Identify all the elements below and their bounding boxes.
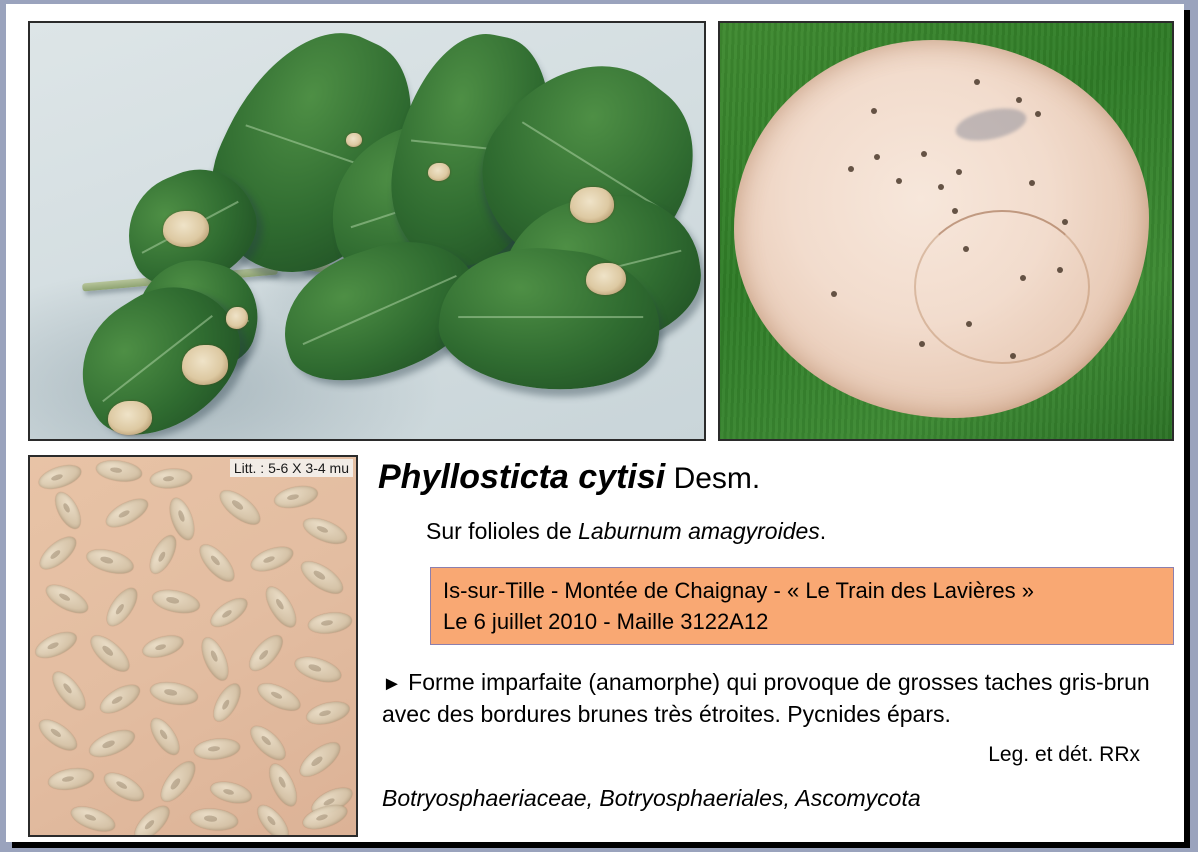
pycnidium-dot <box>1057 267 1063 273</box>
conidium <box>100 767 148 806</box>
leaf-lesion <box>428 163 450 181</box>
pycnidium-dot <box>831 291 837 297</box>
conidium <box>292 652 344 687</box>
conidium <box>47 667 91 716</box>
conidium <box>194 539 240 587</box>
pycnidium-dot <box>874 154 880 160</box>
conidium <box>129 801 175 837</box>
conidium <box>68 802 118 837</box>
pycnidium-dot <box>938 184 944 190</box>
conidium <box>140 632 186 662</box>
conidium <box>197 634 234 684</box>
conidium <box>208 680 245 726</box>
conidium <box>215 484 266 530</box>
species-author: Desm. <box>665 462 760 495</box>
leaf-lesion <box>586 263 626 295</box>
page-title: Phyllosticta cytisi Desm. <box>378 457 760 499</box>
pycnidium-dot <box>1029 180 1035 186</box>
pycnidium-dot <box>1010 353 1016 359</box>
conidium <box>307 610 353 636</box>
spore-size-caption: Litt. : 5-6 X 3-4 mu <box>230 459 353 477</box>
leaf-lesion <box>163 211 209 247</box>
conidium <box>149 679 200 708</box>
conidium <box>86 725 138 762</box>
conidium <box>300 800 350 833</box>
leaf-lesion <box>108 401 152 435</box>
conidium <box>150 586 201 617</box>
conidium <box>101 583 143 631</box>
pycnidium-dot <box>896 178 902 184</box>
collector-line: Leg. et dét. RRx <box>988 742 1140 768</box>
text-column: Phyllosticta cytisi Desm. Sur folioles d… <box>370 449 1180 839</box>
conidium <box>145 531 181 577</box>
locality-line-1: Is-sur-Tille - Montée de Chaignay - « Le… <box>443 575 1173 606</box>
leaves-photo[interactable] <box>28 21 706 441</box>
conidium <box>35 531 82 575</box>
conidium <box>145 714 184 759</box>
leaf-lesion <box>226 307 248 329</box>
leaf-lesion <box>346 133 362 147</box>
conidium <box>264 760 302 810</box>
lesion-concentric-ring <box>914 210 1090 364</box>
conidium <box>84 545 136 578</box>
description-paragraph: ► Forme imparfaite (anamorphe) qui provo… <box>382 667 1162 729</box>
conidium <box>36 461 84 494</box>
conidium <box>244 630 288 676</box>
lesion-closeup-photo[interactable] <box>718 21 1174 441</box>
conidium <box>155 756 201 807</box>
locality-line-2: Le 6 juillet 2010 - Maille 3122A12 <box>443 606 1173 637</box>
slide-page: Litt. : 5-6 X 3-4 mu Phyllosticta cytisi… <box>6 4 1184 842</box>
pycnidium-dot <box>1020 275 1026 281</box>
host-species-name: Laburnum amagyroides <box>578 518 820 544</box>
species-binomial: Phyllosticta cytisi <box>378 458 665 496</box>
locality-box[interactable]: Is-sur-Tille - Montée de Chaignay - « Le… <box>430 567 1174 645</box>
conidium <box>300 513 350 549</box>
conidium <box>96 679 144 718</box>
description-text: Forme imparfaite (anamorphe) qui provoqu… <box>382 669 1150 727</box>
conidium <box>193 737 241 762</box>
conidium <box>42 579 92 618</box>
conidium <box>295 736 346 782</box>
pycnidium-dot <box>1062 219 1068 225</box>
pycnidium-dot <box>952 208 958 214</box>
conidium <box>208 778 253 807</box>
conidium <box>95 458 143 484</box>
conidium <box>248 542 296 576</box>
conidium <box>296 555 348 599</box>
pycnidium-dot <box>921 151 927 157</box>
leaf-lesion <box>570 187 614 223</box>
conidium <box>245 721 291 766</box>
pycnidium-dot <box>966 321 972 327</box>
leaf-spot-lesion <box>734 40 1150 419</box>
spores-microscopy-photo[interactable]: Litt. : 5-6 X 3-4 mu <box>28 455 358 837</box>
pycnidium-dot <box>956 169 962 175</box>
conidium <box>85 630 135 678</box>
conidium <box>47 765 96 793</box>
pycnidium-dot <box>1035 111 1041 117</box>
conidium <box>189 807 239 833</box>
conidium <box>50 488 86 532</box>
pycnidium-dot <box>1016 97 1022 103</box>
conidium <box>304 698 352 728</box>
pycnidium-dot <box>919 341 925 347</box>
conidium <box>272 483 319 512</box>
host-suffix: . <box>820 518 826 544</box>
pycnidium-dot <box>963 246 969 252</box>
conidium <box>260 582 301 632</box>
pycnidium-dot <box>871 108 877 114</box>
taxonomy-line: Botryosphaeriaceae, Botryosphaeriales, A… <box>382 784 921 812</box>
conidium <box>102 493 152 532</box>
conidium <box>32 627 80 663</box>
conidium <box>206 593 251 632</box>
conidium <box>254 678 304 716</box>
bullet-arrow-icon: ► <box>382 673 402 695</box>
conidium <box>149 467 192 490</box>
conidium <box>34 714 81 756</box>
pycnidium-dot <box>848 166 854 172</box>
host-prefix: Sur folioles de <box>426 518 578 544</box>
pycnidium-dot <box>974 79 980 85</box>
host-line: Sur folioles de Laburnum amagyroides. <box>426 517 826 545</box>
leaf-lesion <box>182 345 228 385</box>
